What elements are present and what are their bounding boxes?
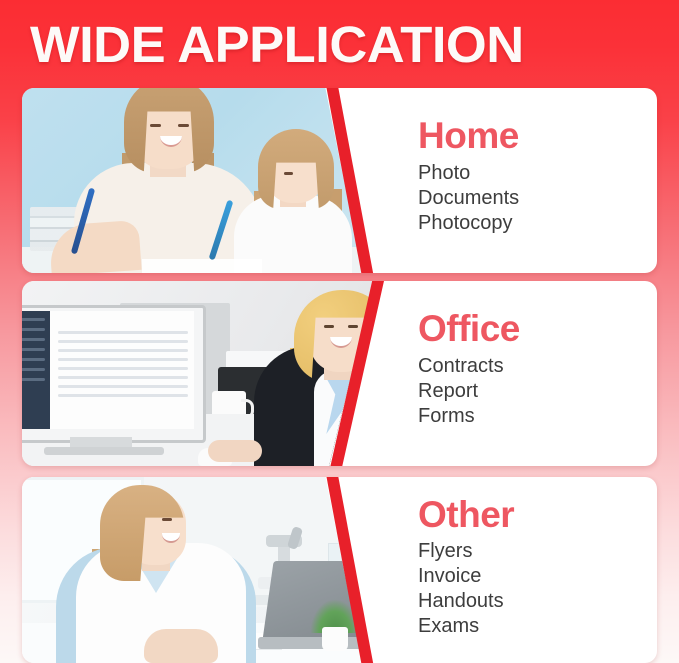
list-item: Photocopy [418, 211, 519, 236]
list-item: Exams [418, 614, 504, 639]
list-item: Report [418, 379, 504, 404]
paper-sheet [142, 259, 262, 273]
category-card-office: Office Contracts Report Forms [22, 281, 657, 466]
eye [162, 518, 172, 521]
list-item: Documents [418, 186, 519, 211]
hair-right [368, 348, 392, 420]
list-item: Handouts [418, 589, 504, 614]
category-title-office: Office [418, 309, 520, 349]
eye-right [348, 325, 358, 328]
list-item: Contracts [418, 354, 504, 379]
category-title-home: Home [418, 116, 519, 156]
hand-on-mouse [208, 440, 262, 462]
girl-eye [284, 172, 293, 175]
screen-sidebar [22, 311, 50, 429]
woman-eye-left [150, 124, 161, 127]
lab-woman-with-laptop-photo [22, 477, 392, 663]
eye-left [324, 325, 334, 328]
list-item: Flyers [418, 539, 504, 564]
list-item: Forms [418, 404, 504, 429]
card-photo-office [22, 281, 392, 466]
category-list-office: Contracts Report Forms [418, 354, 504, 429]
list-item: Invoice [418, 564, 504, 589]
page-title: WIDE APPLICATION [30, 14, 669, 76]
mother-and-daughter-writing-photo [22, 88, 392, 273]
monitor-base [44, 447, 164, 455]
card-photo-other [22, 477, 392, 663]
category-card-other: Other Flyers Invoice Handouts Exams [22, 477, 657, 663]
card-photo-home [22, 88, 392, 273]
card-text-other: Other Flyers Invoice Handouts Exams [392, 477, 657, 663]
list-item: Photo [418, 161, 519, 186]
card-text-office: Office Contracts Report Forms [392, 281, 657, 466]
plant-pot [322, 627, 348, 651]
woman-eye-right [178, 124, 189, 127]
screen-text-lines [58, 325, 188, 403]
category-list-home: Photo Documents Photocopy [418, 161, 519, 236]
wide-application-poster: WIDE APPLICATION [0, 0, 679, 663]
card-text-home: Home Photo Documents Photocopy [392, 88, 657, 273]
category-title-other: Other [418, 495, 514, 535]
laptop-base [258, 637, 378, 649]
category-list-other: Flyers Invoice Handouts Exams [418, 539, 504, 639]
clasped-hands [144, 629, 218, 663]
category-card-home: Home Photo Documents Photocopy [22, 88, 657, 273]
office-woman-at-desk-photo [22, 281, 392, 466]
